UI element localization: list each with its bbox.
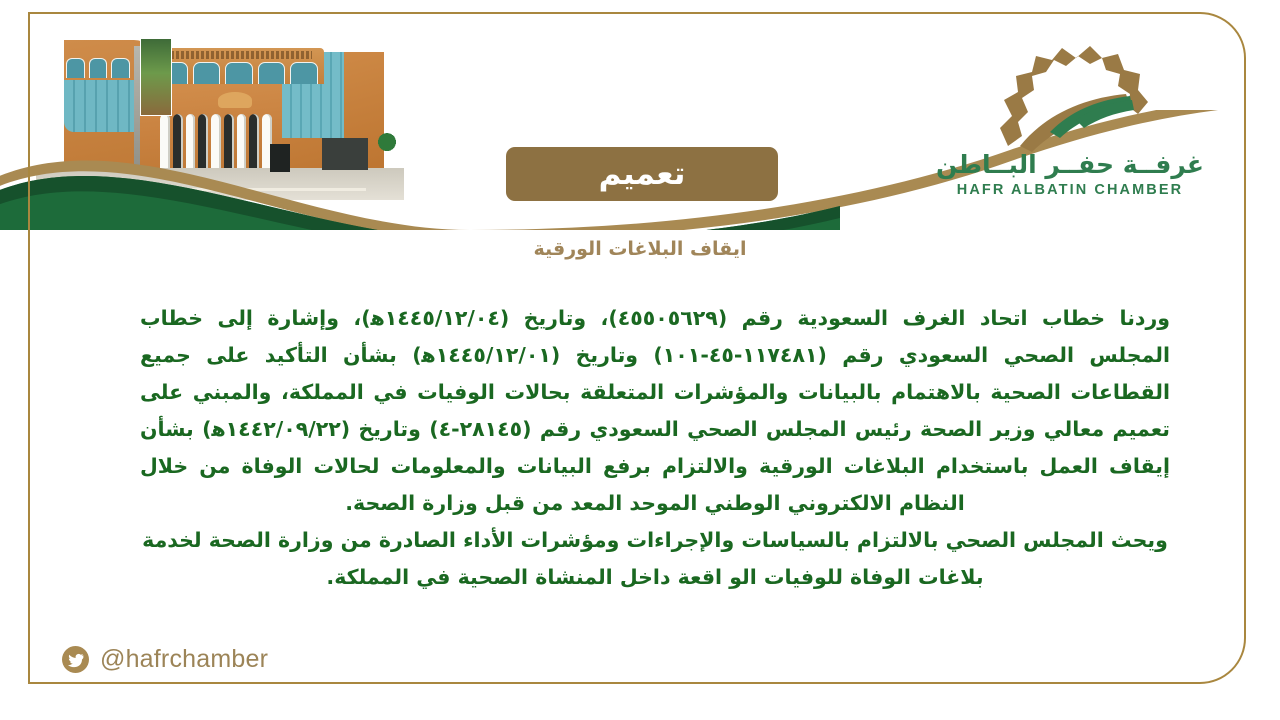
building-emblem (218, 92, 252, 108)
social-handle-block[interactable]: @hafrchamber (62, 645, 268, 674)
status-badge: تعميم (506, 147, 778, 201)
building-arch-windows (160, 62, 318, 84)
building-signage-text (166, 51, 312, 59)
chamber-logo-english-name: HAFR ALBATIN CHAMBER (930, 182, 1210, 198)
circular-body: وردنا خطاب اتحاد الغرف السعودية رقم (٤٥٥… (140, 300, 1170, 596)
twitter-bird-icon[interactable] (62, 646, 89, 673)
body-paragraph-1: وردنا خطاب اتحاد الغرف السعودية رقم (٤٥٥… (140, 300, 1170, 522)
chamber-gear-landscape-logo-icon (998, 42, 1150, 154)
social-handle-text[interactable]: @hafrchamber (100, 645, 268, 674)
chamber-logo-arabic-name: غرفــة حفــر البــاطن (930, 150, 1210, 179)
circular-poster: غرفــة حفــر البــاطن HAFR ALBATIN CHAMB… (0, 0, 1280, 720)
body-paragraph-2: ويحث المجلس الصحي بالالتزام بالسياسات وا… (140, 522, 1170, 596)
chamber-logo: غرفــة حفــر البــاطن HAFR ALBATIN CHAMB… (930, 42, 1210, 207)
badge-label: تعميم (599, 156, 686, 192)
building-portrait-banner (140, 38, 172, 116)
page-subtitle: ايقاف البلاغات الورقية (0, 238, 1280, 260)
